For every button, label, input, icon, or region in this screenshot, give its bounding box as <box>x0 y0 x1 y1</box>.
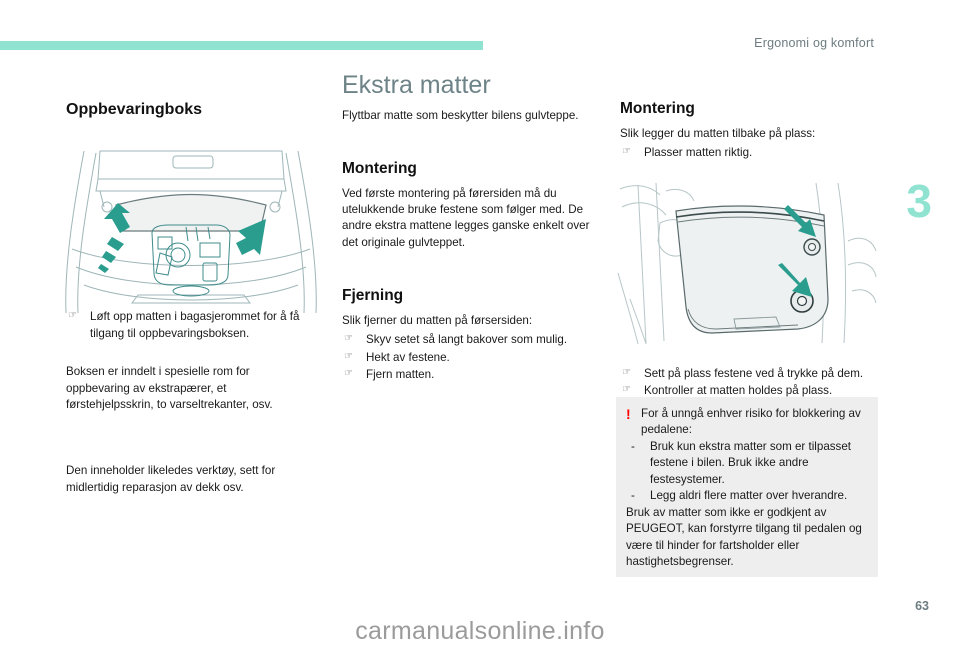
hand-pointer-icon: ☞ <box>622 145 631 159</box>
hand-pointer-icon: ☞ <box>344 332 353 346</box>
watermark: carmanualsonline.info <box>0 617 960 646</box>
left-column-paragraph-1: Boksen er inndelt i spesielle rom for op… <box>66 364 316 413</box>
list-item-label: Skyv setet så langt bakover som mulig. <box>366 333 567 346</box>
list-item: - Bruk kun ekstra matter som er tilpasse… <box>626 439 866 488</box>
right-section-lead: Slik legger du matten tilbake på plass: <box>620 126 875 142</box>
list-item-label: Fjern matten. <box>366 368 434 381</box>
warning-exclamation-icon: ! <box>626 405 631 425</box>
middle-column-intro: Flyttbar matte som beskytter bilens gulv… <box>342 108 594 124</box>
list-item: - Legg aldri flere matter over hverandre… <box>626 488 866 504</box>
right-section-bullet-list-after: ☞ Sett på plass festene ved å trykke på … <box>620 366 875 400</box>
left-column-paragraph-2: Den inneholder likeledes verktøy, sett f… <box>66 463 316 496</box>
hand-pointer-icon: ☞ <box>344 367 353 381</box>
middle-section-2-heading: Fjerning <box>342 287 594 306</box>
warning-lead-text: For å unngå enhver risiko for blokkering… <box>641 407 861 436</box>
warning-lead-row: ! For å unngå enhver risiko for blokkeri… <box>626 406 866 439</box>
list-item: ☞ Hekt av festene. <box>342 350 594 366</box>
trunk-storage-box-illustration <box>60 145 322 315</box>
dash-bullet-icon: - <box>631 439 635 455</box>
warning-item-list: - Bruk kun ekstra matter som er tilpasse… <box>626 439 866 505</box>
header-rule <box>0 41 483 50</box>
hand-pointer-icon: ☞ <box>344 350 353 364</box>
list-item: ☞ Skyv setet så langt bakover som mulig. <box>342 332 594 348</box>
page-number: 63 <box>915 599 929 613</box>
middle-section-1-heading: Montering <box>342 160 594 179</box>
middle-column: Ekstra matter Flyttbar matte som beskytt… <box>342 72 594 392</box>
list-item: ☞ Plasser matten riktig. <box>620 145 875 161</box>
middle-section-2-lead: Slik fjerner du matten på førsersiden: <box>342 313 594 329</box>
list-item: ☞ Sett på plass festene ved å trykke på … <box>620 366 875 382</box>
section-title: Ergonomi og komfort <box>754 36 874 50</box>
list-item: ☞ Fjern matten. <box>342 367 594 383</box>
list-item-label: Legg aldri flere matter over hverandre. <box>650 489 847 502</box>
list-item-label: Hekt av festene. <box>366 351 450 364</box>
warning-tail-text: Bruk av matter som ikke er godkjent av P… <box>626 505 866 571</box>
hand-pointer-icon: ☞ <box>622 366 631 380</box>
floor-mat-fasteners-illustration <box>616 181 878 345</box>
warning-box: ! For å unngå enhver risiko for blokkeri… <box>616 397 878 577</box>
middle-section-1-paragraph: Ved første montering på førersiden må du… <box>342 186 594 252</box>
right-section-bullet-list-before: ☞ Plasser matten riktig. <box>620 145 875 161</box>
middle-section-2-bullet-list: ☞ Skyv setet så langt bakover som mulig.… <box>342 332 594 383</box>
chapter-number: 3 <box>906 178 932 224</box>
list-item-label: Bruk kun ekstra matter som er tilpasset … <box>650 440 851 486</box>
page-title: Ekstra matter <box>342 72 594 100</box>
dash-bullet-icon: - <box>631 488 635 504</box>
fastener-eyelet-upper <box>804 239 820 255</box>
list-item-label: Plasser matten riktig. <box>644 146 752 159</box>
left-column-heading: Oppbevaringboks <box>66 100 316 119</box>
right-section-heading: Montering <box>620 100 875 119</box>
list-item-label: Kontroller at matten holdes på plass. <box>644 384 832 397</box>
list-item-label: Sett på plass festene ved å trykke på de… <box>644 367 863 380</box>
hand-pointer-icon: ☞ <box>622 383 631 397</box>
